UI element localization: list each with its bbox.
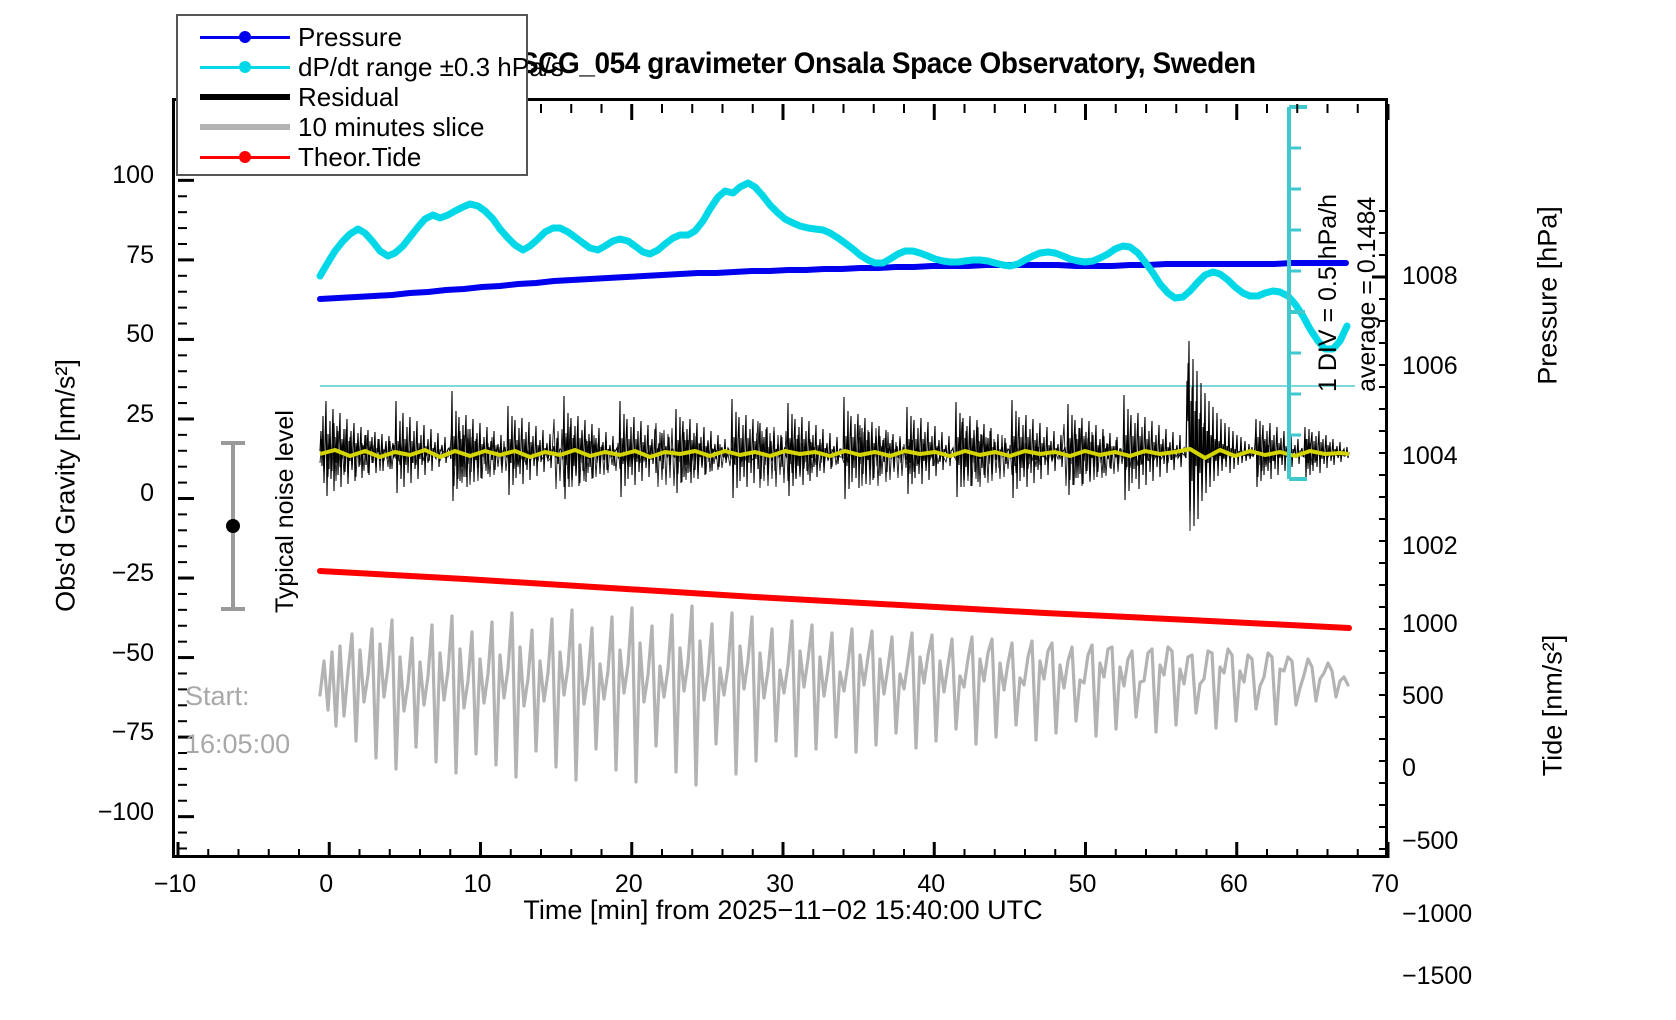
dpdt-scale-bar bbox=[1269, 101, 1309, 501]
legend-item-2[interactable]: Residual bbox=[178, 82, 526, 112]
y-axis-right-tide-title: Tide [nm/s²] bbox=[1538, 581, 1569, 831]
y-right-tide-tick-label: −500 bbox=[1402, 827, 1512, 856]
y-left-tick-label: 100 bbox=[42, 161, 154, 190]
plot-area: Start: 16:05:00 The requested 1−hour, 1−… bbox=[172, 98, 1388, 858]
dpdt-division-label: 1 DIV = 0.5 hPa/h bbox=[1314, 194, 1343, 392]
y-right-pressure-tick-label: 1002 bbox=[1402, 532, 1512, 561]
legend-item-0[interactable]: Pressure bbox=[178, 22, 526, 52]
y-right-tide-tick-label: 0 bbox=[1402, 754, 1512, 783]
y-left-tick-label: −100 bbox=[42, 798, 154, 827]
legend-swatch-icon bbox=[200, 57, 290, 77]
tide-curve bbox=[320, 571, 1349, 628]
legend-item-3[interactable]: 10 minutes slice bbox=[178, 112, 526, 142]
noise-level-marker bbox=[203, 431, 263, 621]
y-axis-left-title: Obs'd Gravity [nm/s²] bbox=[51, 316, 82, 656]
start-label-line1: Start: bbox=[185, 681, 250, 712]
legend-item-label: Residual bbox=[290, 82, 399, 113]
legend-item-1[interactable]: dP/dt range ±0.3 hPa/s bbox=[178, 52, 526, 82]
start-label-line2: 16:05:00 bbox=[185, 729, 290, 760]
x-tick-label: 0 bbox=[266, 870, 386, 899]
slice-curve bbox=[320, 606, 1348, 785]
dpdt-average-label: average = 0.1484 bbox=[1353, 197, 1382, 392]
y-axis-right-pressure-title: Pressure [hPa] bbox=[1533, 166, 1564, 426]
page-title: SCG_054 gravimeter Onsala Space Observat… bbox=[520, 47, 1320, 81]
plot-canvas: Start: 16:05:00 The requested 1−hour, 1−… bbox=[175, 101, 1385, 855]
y-right-pressure-tick-label: 1008 bbox=[1402, 262, 1512, 291]
footer-right-text: End at 2025−11−02 16:39:59 UTC bbox=[947, 853, 1326, 855]
legend-swatch-icon bbox=[200, 117, 290, 137]
y-right-tide-tick-label: −1000 bbox=[1402, 900, 1512, 929]
y-right-tide-tick-label: 1000 bbox=[1402, 610, 1512, 639]
legend-swatch-icon bbox=[200, 87, 290, 107]
legend-item-label: Pressure bbox=[290, 22, 402, 53]
legend-item-4[interactable]: Theor.Tide bbox=[178, 142, 526, 172]
legend-item-label: dP/dt range ±0.3 hPa/s bbox=[290, 52, 564, 83]
x-tick-label: −10 bbox=[115, 870, 235, 899]
legend-swatch-icon bbox=[200, 27, 290, 47]
y-right-tide-tick-label: 500 bbox=[1402, 682, 1512, 711]
y-left-tick-label: −75 bbox=[42, 718, 154, 747]
typical-noise-level-label: Typical noise level bbox=[271, 410, 300, 613]
legend-item-label: Theor.Tide bbox=[290, 142, 421, 173]
y-left-tick-label: 75 bbox=[42, 241, 154, 270]
footer-left-text: The requested 1−hour, 1−second sampling bbox=[199, 853, 695, 855]
legend-item-label: 10 minutes slice bbox=[290, 112, 484, 143]
x-axis-title: Time [min] from 2025−11−02 15:40:00 UTC bbox=[388, 895, 1178, 926]
legend-swatch-icon bbox=[200, 147, 290, 167]
chart-svg bbox=[175, 101, 1385, 855]
y-right-tide-tick-label: −1500 bbox=[1402, 962, 1512, 991]
y-right-pressure-tick-label: 1006 bbox=[1402, 352, 1512, 381]
x-tick-label: 70 bbox=[1325, 870, 1445, 899]
x-tick-label: 60 bbox=[1174, 870, 1294, 899]
y-right-pressure-tick-label: 1004 bbox=[1402, 442, 1512, 471]
residual-curve bbox=[320, 341, 1349, 531]
legend: PressuredP/dt range ±0.3 hPa/sResidual10… bbox=[176, 14, 528, 176]
